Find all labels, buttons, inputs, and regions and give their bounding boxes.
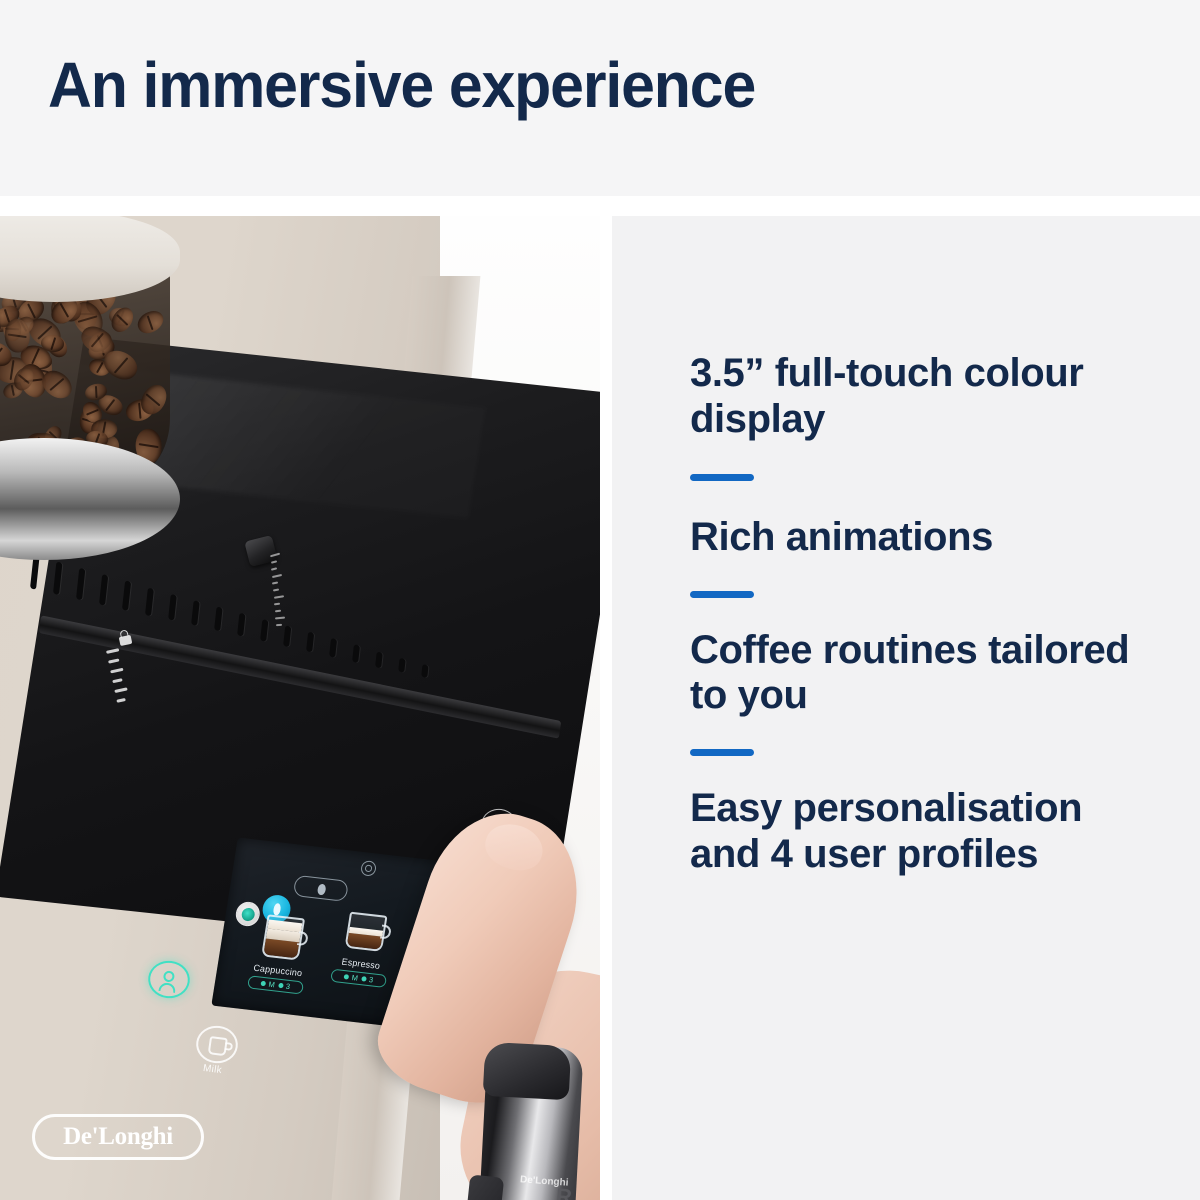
feature-divider [690,474,754,481]
page-root: An immersive experience [0,0,1200,1200]
lock-icon [116,629,133,648]
badge-strength: 3 [368,975,374,985]
grind-scale-ticks [268,554,328,634]
feature-item-display: 3.5” full-touch colour display [690,351,1130,442]
feature-panel: 3.5” full-touch colour display Rich anim… [612,216,1200,1200]
drink-card[interactable]: Espresso M 3 [319,905,407,989]
feature-item-routines: Coffee routines tailored to you [690,628,1130,719]
badge-size: M [351,973,359,983]
gear-icon[interactable] [360,860,377,877]
feature-divider [690,749,754,756]
page-title: An immersive experience [48,52,755,119]
drink-card[interactable]: Cappuccino M 3 [236,912,324,996]
feature-item-personalisation: Easy personalisation and 4 user profiles [690,786,1130,877]
feature-divider [690,591,754,598]
feature-list: 3.5” full-touch colour display Rich anim… [690,351,1130,877]
drink-badge[interactable]: M 3 [330,969,387,988]
bean-toggle-icon[interactable] [293,875,349,902]
badge-strength: 3 [285,982,291,992]
side-logo-letter: R [555,1183,573,1200]
delonghi-logo: De'Longhi [32,1114,204,1160]
milk-key-label: Milk [202,1063,222,1076]
drink-badge[interactable]: M 3 [247,975,304,994]
feature-item-animations: Rich animations [690,515,1130,561]
spout-cap [483,1042,572,1100]
badge-size: M [268,980,276,990]
header-band: An immersive experience [0,0,1200,196]
product-photo: Cappuccino M 3 [0,216,600,1200]
delonghi-logo-text: De'Longhi [63,1123,173,1151]
